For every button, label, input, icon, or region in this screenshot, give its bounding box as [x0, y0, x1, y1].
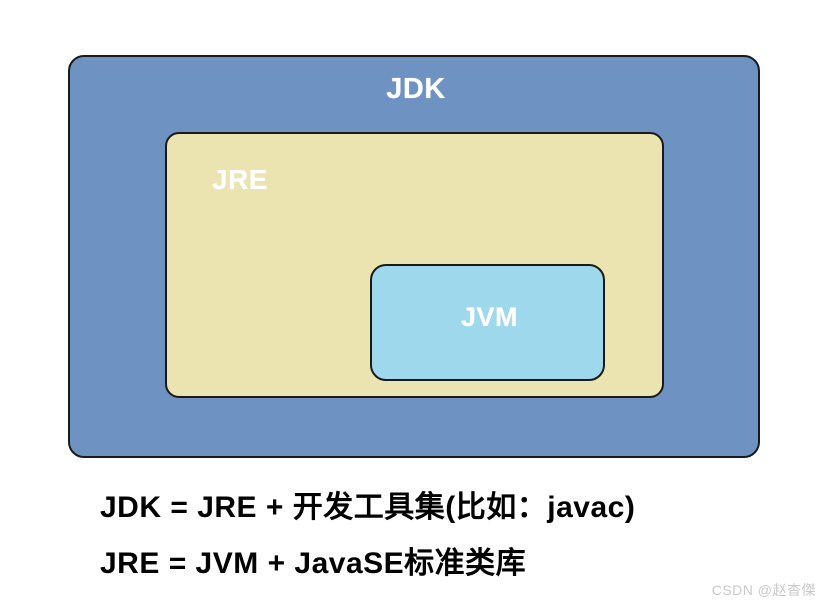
jdk-label: JDK [70, 73, 762, 106]
jvm-container-box: JVM [370, 264, 605, 381]
csdn-watermark: CSDN @赵杳傑 [712, 580, 816, 600]
jdk-container-box: JDK JRE JVM [68, 55, 760, 458]
formula-jdk-definition: JDK = JRE + 开发工具集(比如：javac) [100, 480, 740, 536]
formula-list: JDK = JRE + 开发工具集(比如：javac) JRE = JVM + … [100, 480, 740, 592]
formula-jre-definition: JRE = JVM + JavaSE标准类库 [100, 536, 740, 592]
jvm-label: JVM [372, 302, 607, 333]
diagram-canvas: JDK JRE JVM JDK = JRE + 开发工具集(比如：javac) … [0, 0, 828, 609]
jre-label: JRE [212, 164, 268, 196]
jre-container-box: JRE JVM [165, 132, 664, 398]
